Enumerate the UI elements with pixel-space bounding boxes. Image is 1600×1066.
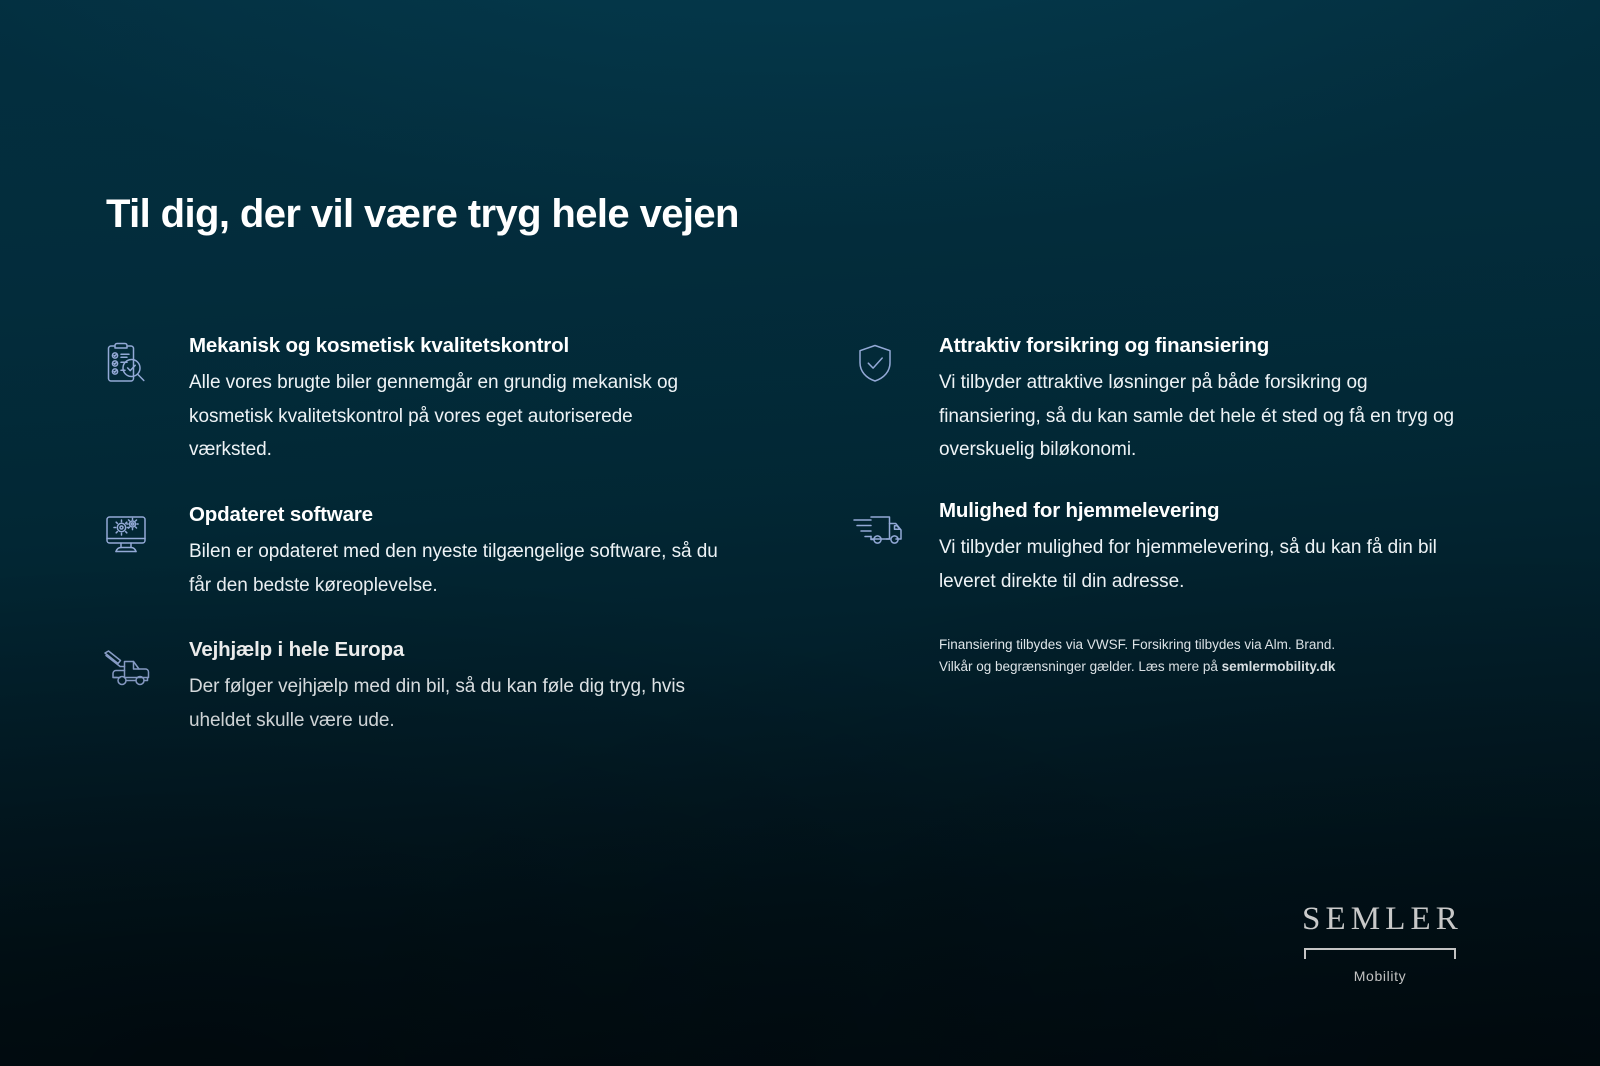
feature-text: Mulighed for hjemmelevering Vi tilbyder … [908,499,1468,598]
feature-description: Der følger vejhjælp med din bil, så du k… [189,670,718,737]
feature-title: Attraktiv forsikring og finansiering [939,334,1468,358]
brand-divider-cap-right [1454,948,1456,959]
page-title: Til dig, der vil være tryg hele vejen [106,192,739,237]
feature-text: Attraktiv forsikring og finansiering Vi … [908,334,1468,467]
shield-check-icon [850,338,908,390]
feature-column-right: Attraktiv forsikring og finansiering Vi … [750,334,1510,773]
disclaimer-line-1: Finansiering tilbydes via VWSF. Forsikri… [939,634,1419,656]
feature-item-roadside-assistance: Vejhjælp i hele Europa Der følger vejhjæ… [100,638,750,737]
monitor-gears-icon [100,507,158,559]
feature-title: Vejhjælp i hele Europa [189,638,718,662]
slide-canvas: Til dig, der vil være tryg hele vejen [0,0,1600,1066]
semler-mobility-logo: SEMLER Mobility [1280,903,1480,984]
disclaimer-line-2: Vilkår og begrænsninger gælder. Læs mere… [939,656,1419,678]
feature-item-insurance-financing: Attraktiv forsikring og finansiering Vi … [850,334,1510,467]
feature-item-quality-control: Mekanisk og kosmetisk kvalitetskontrol A… [100,334,750,467]
legal-disclaimer: Finansiering tilbydes via VWSF. Forsikri… [939,634,1419,678]
brand-divider-cap-left [1304,948,1306,959]
tow-truck-icon [100,642,158,694]
brand-subtitle: Mobility [1280,968,1480,984]
feature-item-home-delivery: Mulighed for hjemmelevering Vi tilbyder … [850,499,1510,598]
feature-description: Bilen er opdateret med den nyeste tilgæn… [189,535,718,602]
disclaimer-line-2-text: Vilkår og begrænsninger gælder. Læs mere… [939,659,1222,674]
brand-divider-bar [1304,948,1456,950]
feature-description: Vi tilbyder attraktive løsninger på både… [939,366,1468,467]
feature-column-left: Mekanisk og kosmetisk kvalitetskontrol A… [0,334,750,773]
semlermobility-link[interactable]: semlermobility.dk [1222,659,1336,674]
feature-title: Opdateret software [189,503,718,527]
brand-divider [1304,948,1456,959]
feature-text: Vejhjælp i hele Europa Der følger vejhjæ… [158,638,718,737]
delivery-truck-icon [850,503,908,555]
feature-text: Opdateret software Bilen er opdateret me… [158,503,718,602]
feature-item-updated-software: Opdateret software Bilen er opdateret me… [100,503,750,602]
feature-title: Mekanisk og kosmetisk kvalitetskontrol [189,334,718,358]
feature-columns: Mekanisk og kosmetisk kvalitetskontrol A… [0,334,1600,773]
feature-title: Mulighed for hjemmelevering [939,499,1468,523]
feature-description: Alle vores brugte biler gennemgår en gru… [189,366,718,467]
brand-wordmark: SEMLER [1280,903,1480,936]
feature-text: Mekanisk og kosmetisk kvalitetskontrol A… [158,334,718,467]
feature-description: Vi tilbyder mulighed for hjemmelevering,… [939,531,1468,598]
clipboard-checklist-magnifier-icon [100,338,158,390]
